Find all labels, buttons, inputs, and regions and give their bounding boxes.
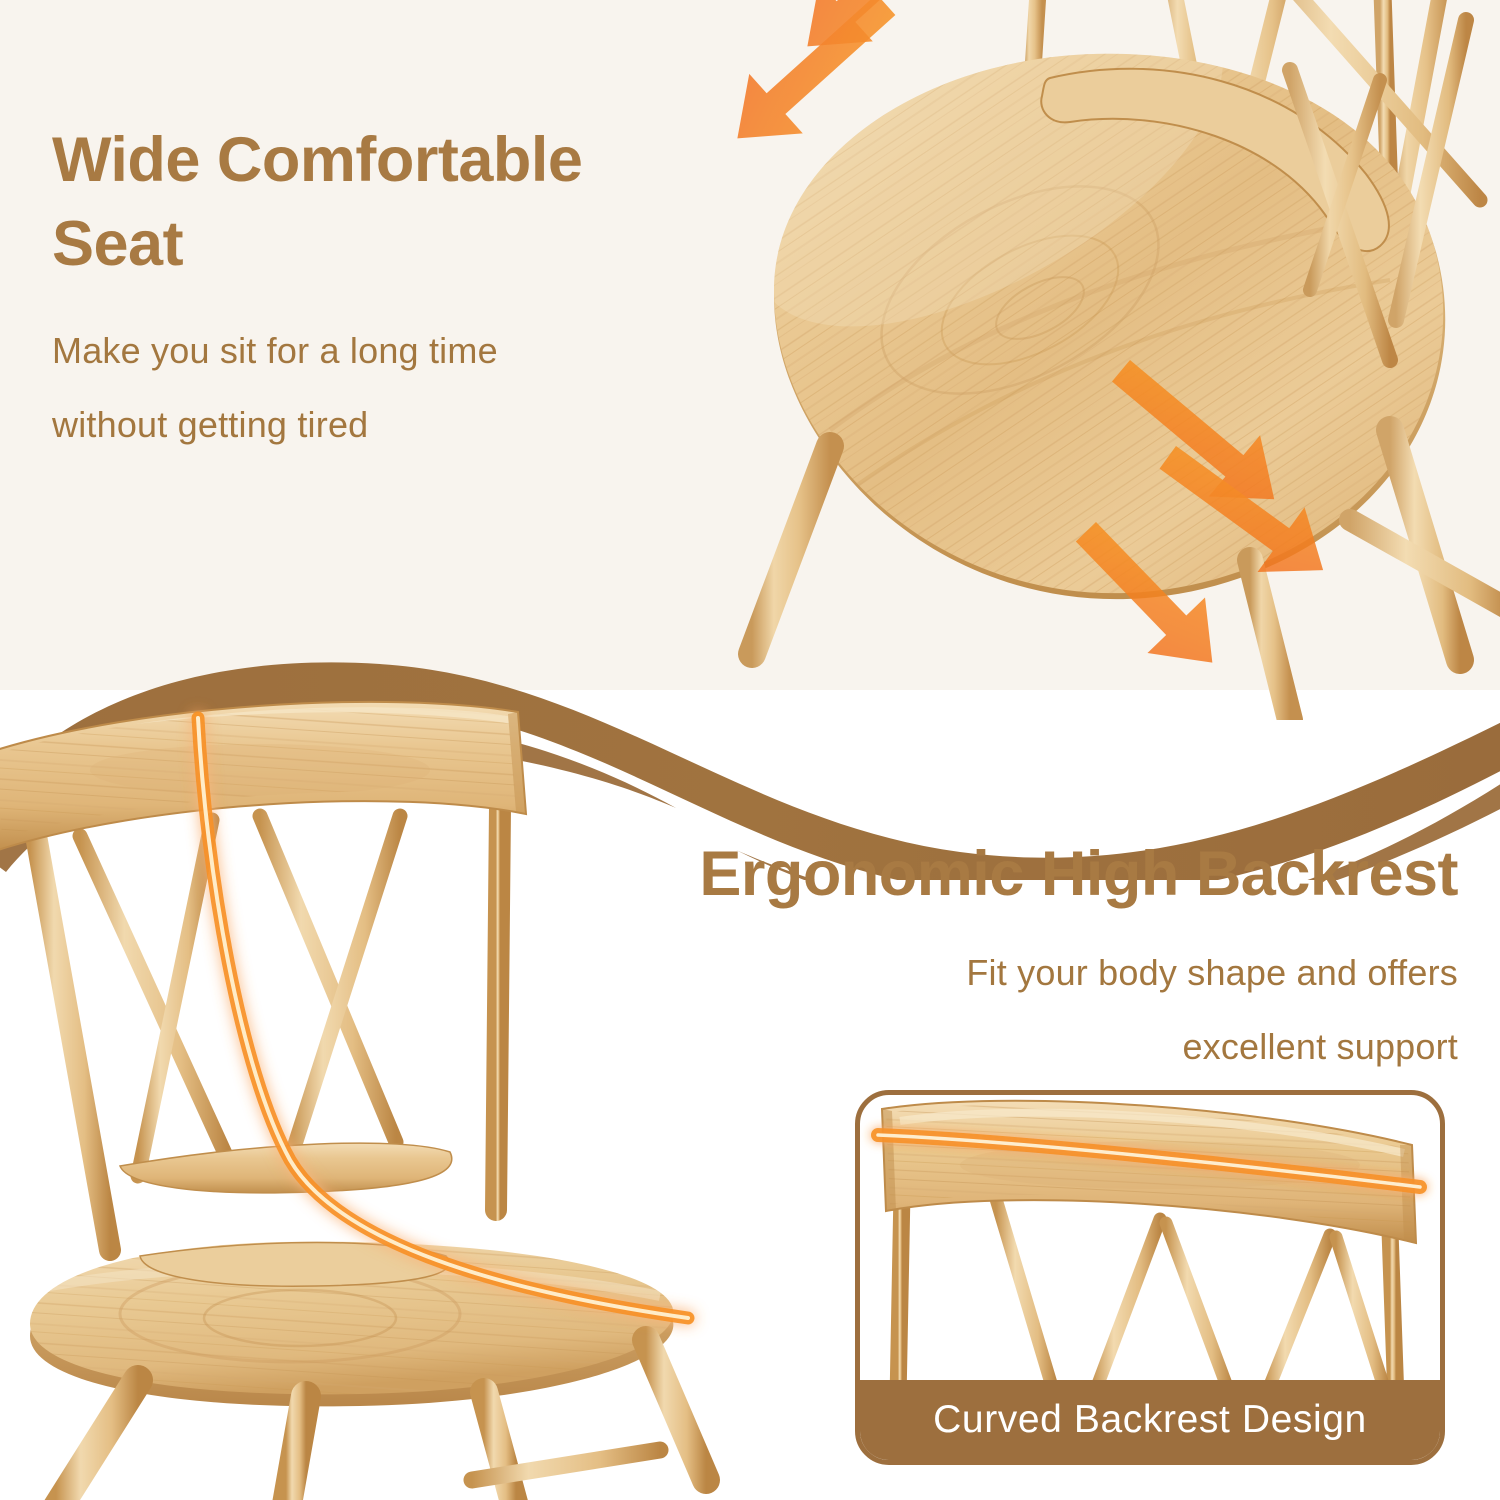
product-feature-graphic: Wide Comfortable Seat Make you sit for a…: [0, 0, 1500, 1500]
top-left-heading: Wide Comfortable Seat: [52, 118, 772, 286]
bottom-right-subtext: Fit your body shape and offers excellent…: [558, 936, 1458, 1084]
top-left-text-block: Wide Comfortable Seat Make you sit for a…: [52, 118, 772, 462]
inset-backrest-photo: [860, 1095, 1440, 1400]
bottom-right-text-block: Ergonomic High Backrest Fit your body sh…: [558, 832, 1458, 1084]
curved-backrest-inset-card: Curved Backrest Design: [855, 1090, 1445, 1465]
backrest-closeup-illustration: [860, 1095, 1440, 1400]
inset-caption-bar: Curved Backrest Design: [860, 1380, 1440, 1460]
top-left-subtext: Make you sit for a long time without get…: [52, 314, 772, 462]
full-chair-photo: [0, 690, 760, 1500]
bottom-right-heading: Ergonomic High Backrest: [558, 832, 1458, 916]
inset-caption-label: Curved Backrest Design: [933, 1398, 1367, 1442]
